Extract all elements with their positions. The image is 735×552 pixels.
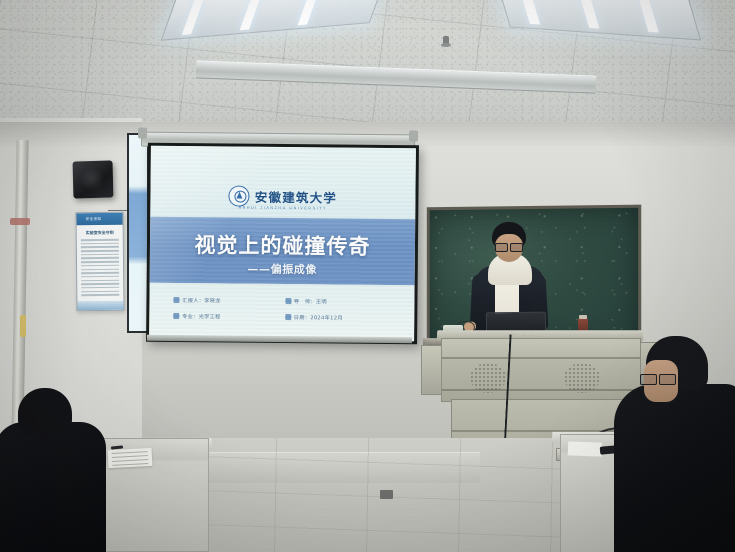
university-seal-icon	[229, 185, 250, 206]
pipe-clamp-upper	[10, 218, 30, 225]
student-right	[612, 336, 735, 552]
slide-meta-item: 专业：光学工程	[173, 312, 279, 320]
podium-speaker-grille-left	[470, 363, 506, 393]
student-left	[0, 388, 120, 552]
sprinkler-head-icon	[443, 36, 449, 45]
student-right-glasses-icon	[640, 374, 676, 383]
slide-meta-text: 汇报人：李晓龙	[182, 297, 220, 304]
slide-title: 视觉上的碰撞传奇	[150, 229, 415, 262]
slide-meta-item: 日期：2024年12月	[285, 314, 391, 322]
student-left-body	[0, 422, 106, 552]
calendar-icon	[285, 314, 291, 320]
classroom-photo: 安全须知 实验室安全守则 安徽建筑大学 ANHUI JIANZHU UNIVER…	[0, 0, 735, 552]
notice-header: 安全须知	[76, 213, 122, 225]
slide-meta-text: 专业：光学工程	[182, 313, 220, 320]
person-icon	[173, 297, 179, 303]
building-icon	[173, 313, 179, 319]
wall-notice-board: 安全须知 实验室安全守则	[75, 212, 124, 311]
slide-meta-item: 导 师：王明	[285, 298, 391, 306]
slide-subtitle: ——偏振成像	[150, 260, 415, 279]
slide-meta-text: 日期：2024年12月	[294, 314, 343, 321]
presentation-slide: 安徽建筑大学 ANHUI JIANZHU UNIVERSITY 视觉上的碰撞传奇…	[149, 146, 416, 342]
pipe-valve-tag	[20, 315, 26, 337]
slide-metadata-grid: 汇报人：李晓龙 导 师：王明 专业：光学工程 日期：2024年12月	[173, 296, 391, 321]
wall-speaker	[73, 160, 114, 198]
person-icon	[285, 298, 291, 304]
student-left-head	[18, 388, 72, 434]
notice-footer	[77, 301, 123, 310]
student-right-body	[614, 384, 735, 552]
notice-header-label: 安全须知	[76, 213, 122, 222]
floor-connector-box	[380, 490, 393, 499]
presenter-glasses-icon	[495, 243, 523, 250]
slide-meta-text: 导 师：王明	[294, 298, 327, 305]
notice-title: 实验室安全守则	[77, 230, 123, 236]
notebook-paper-right	[568, 441, 602, 456]
projection-screen: 安徽建筑大学 ANHUI JIANZHU UNIVERSITY 视觉上的碰撞传奇…	[146, 143, 419, 345]
notice-body-lines	[77, 239, 124, 296]
slide-meta-item: 汇报人：李晓龙	[173, 296, 279, 304]
university-name-cn: 安徽建筑大学	[255, 186, 337, 206]
